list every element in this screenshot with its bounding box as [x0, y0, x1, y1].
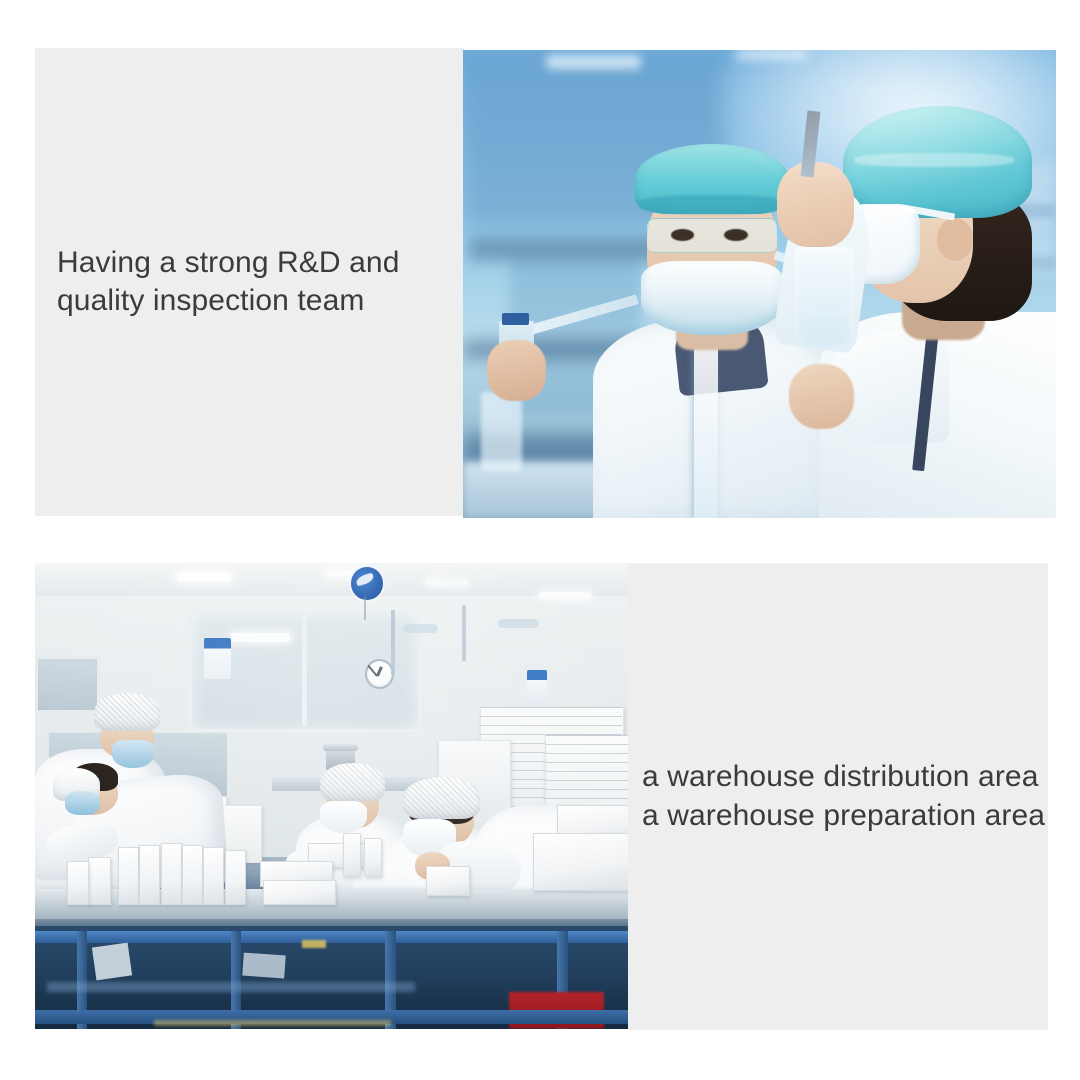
paper-sheet-1 [92, 943, 132, 980]
bottom-caption-line-2: a warehouse preparation area [642, 797, 1048, 835]
worker-3-hairnet-texture [320, 763, 385, 800]
technician-a-eye-right [724, 229, 748, 241]
ceiling-light-1-icon [177, 573, 230, 580]
extraction-hood-left [403, 624, 439, 633]
ceiling-pipe-left [391, 610, 395, 675]
carton-upright-8 [67, 861, 89, 905]
window-interior-light-icon [231, 633, 290, 642]
wall-placard-left [204, 638, 231, 680]
table-lower-shelf [47, 982, 415, 991]
beaker-glassware [481, 392, 523, 472]
carton-upright-3 [161, 843, 182, 906]
worker-1-face-mask [112, 740, 154, 768]
reagent-bottle-cap [502, 313, 529, 325]
side-window-left [35, 656, 100, 713]
page-root: Having a strong R&D and quality inspecti… [0, 0, 1080, 1080]
technician-a-face-mask [641, 261, 783, 336]
top-caption-line-1: Having a strong R&D and [57, 244, 464, 282]
rd-quality-inspection-lab-photo [463, 50, 1056, 518]
carton-upright-6 [225, 850, 246, 906]
technician-a-safety-goggles [647, 218, 777, 253]
carton-flat-2 [263, 880, 336, 905]
ceiling-light-3-icon [426, 579, 468, 585]
sign-mounting-pole [364, 597, 367, 620]
technician-a-eye-left [671, 229, 695, 241]
carton-upright-7 [88, 857, 110, 906]
warehouse-packing-area-photo [35, 563, 628, 1029]
cleanroom-ceiling [35, 563, 628, 596]
technician-b-hand [777, 162, 854, 246]
lab-photo-canvas [463, 50, 1056, 518]
worker-3-face-mask [320, 801, 367, 834]
top-caption-panel: Having a strong R&D and quality inspecti… [35, 48, 464, 516]
carton-upright-4 [182, 845, 203, 905]
window-mullion [302, 610, 307, 727]
floor-yellow-line [154, 1020, 391, 1027]
carton-upright-2 [139, 845, 160, 905]
glass-jar [795, 247, 854, 350]
technician-a-hairnet-band [638, 195, 786, 214]
worker-4-hairnet-texture [403, 777, 480, 819]
blue-table-frame-upper-rail [35, 931, 628, 943]
technician-b-ear [937, 218, 973, 260]
worker-1-hairnet-texture [94, 693, 159, 730]
bottom-caption-line-1: a warehouse distribution area [642, 758, 1048, 796]
technician-b-hairnet-fold [854, 153, 1014, 167]
technician-b-lower-hand [789, 364, 854, 430]
ceiling-light-left-icon [546, 55, 641, 69]
carton-upright-1 [118, 847, 139, 905]
wall-placard-right [527, 670, 547, 703]
bottom-caption-panel: a warehouse distribution area a warehous… [628, 563, 1048, 1030]
ceiling-light-4-icon [539, 592, 592, 599]
top-caption-line-2: quality inspection team [57, 282, 464, 320]
product-cylinder-2 [364, 838, 381, 877]
stainless-pot-left-lid [323, 743, 357, 751]
carton-upright-5 [203, 847, 224, 905]
carton-right-center [426, 866, 470, 896]
yellow-marker-tape [302, 940, 326, 947]
technician-a-hand [487, 340, 546, 401]
worker-2-face-mask [65, 791, 101, 814]
paper-sheet-2 [242, 953, 285, 979]
blue-circular-sign-icon [349, 565, 385, 602]
warehouse-photo-canvas [35, 563, 628, 1029]
ceiling-pipe-right [462, 605, 466, 661]
ceiling-light-right-icon [736, 50, 807, 59]
technician-a-coat-placket [694, 340, 718, 518]
extraction-hood-right [498, 619, 540, 628]
product-cylinder-1 [343, 833, 360, 877]
carton-pile-right [533, 833, 628, 891]
